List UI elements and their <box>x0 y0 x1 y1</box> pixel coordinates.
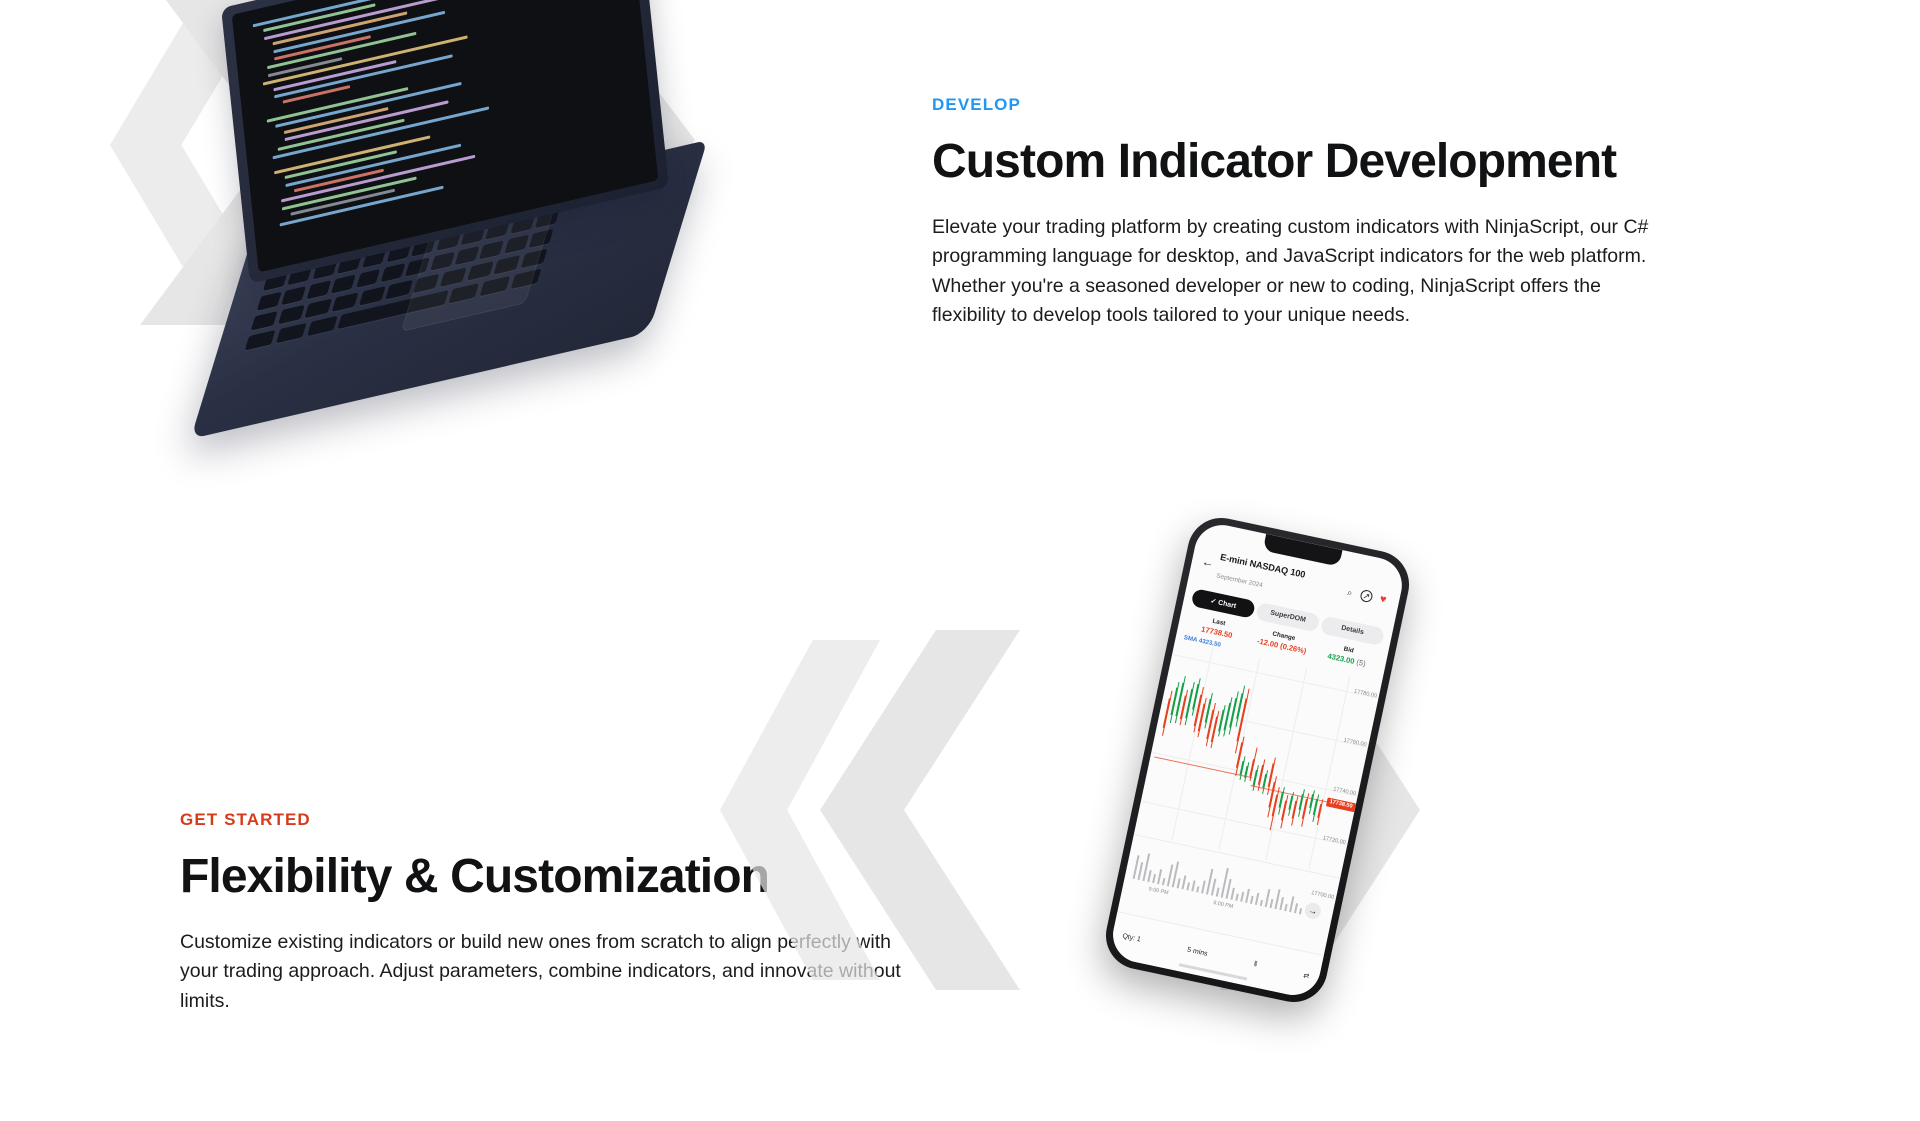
price-label: 17760.00 <box>1343 738 1367 749</box>
settings-icon[interactable]: ⇄ <box>1303 971 1310 980</box>
price-label: 17700.00 <box>1311 890 1335 901</box>
section-body-get-started: Customize existing indicators or build n… <box>180 928 910 1016</box>
candle <box>1281 801 1287 821</box>
section-eyebrow-get-started: GET STARTED <box>180 810 910 830</box>
price-label: 17780.00 <box>1353 689 1377 700</box>
home-indicator <box>1178 963 1247 980</box>
phone-illustration: ← E-mini NASDAQ 100 September 2024 ⌕ ↗ ♥… <box>1100 512 1416 1009</box>
section-develop: DEVELOP Custom Indicator Development Ele… <box>0 0 1920 560</box>
share-icon[interactable]: ↗ <box>1359 589 1373 603</box>
code-editor-content <box>253 0 647 232</box>
phone-screen: ← E-mini NASDAQ 100 September 2024 ⌕ ↗ ♥… <box>1108 520 1407 1000</box>
scroll-forward-icon[interactable]: → <box>1303 901 1322 920</box>
phone-media-block: ← E-mini NASDAQ 100 September 2024 ⌕ ↗ ♥… <box>930 520 1630 1121</box>
section-get-started: GET STARTED Flexibility & Customization … <box>0 560 1920 1121</box>
quantity-label[interactable]: Qty: 1 <box>1122 933 1142 944</box>
candle <box>1292 801 1298 819</box>
laptop-media-block <box>130 0 770 440</box>
section-eyebrow-develop: DEVELOP <box>932 95 1652 115</box>
get-started-text-block: GET STARTED Flexibility & Customization … <box>180 810 910 1016</box>
time-label: 6:00 PM <box>1213 900 1234 910</box>
develop-text-block: DEVELOP Custom Indicator Development Ele… <box>932 95 1652 330</box>
favorite-heart-icon[interactable]: ♥ <box>1376 592 1390 606</box>
last-price-tag: 17738.50 <box>1326 797 1357 812</box>
time-label: 5:00 PM <box>1148 886 1169 896</box>
price-chart[interactable]: 17780.00 17760.00 17740.00 <box>1134 640 1381 876</box>
marketing-page: DEVELOP Custom Indicator Development Ele… <box>0 0 1920 1121</box>
section-headline-develop: Custom Indicator Development <box>932 135 1652 189</box>
price-label: 17720.00 <box>1322 835 1346 846</box>
price-label: 17740.00 <box>1333 786 1357 797</box>
section-body-develop: Elevate your trading platform by creatin… <box>932 213 1652 330</box>
indicators-icon[interactable]: ⦀ <box>1253 960 1258 968</box>
instrument-expiry: September 2024 <box>1216 573 1264 590</box>
back-arrow-icon[interactable]: ← <box>1201 555 1215 569</box>
quote-bid-size: (5) <box>1354 657 1367 668</box>
section-headline-get-started: Flexibility & Customization <box>180 850 910 904</box>
candle <box>1302 799 1308 819</box>
laptop-illustration <box>170 0 730 390</box>
search-icon[interactable]: ⌕ <box>1343 585 1357 599</box>
interval-label[interactable]: 5 mins <box>1186 947 1208 958</box>
phone-frame: ← E-mini NASDAQ 100 September 2024 ⌕ ↗ ♥… <box>1100 512 1416 1009</box>
